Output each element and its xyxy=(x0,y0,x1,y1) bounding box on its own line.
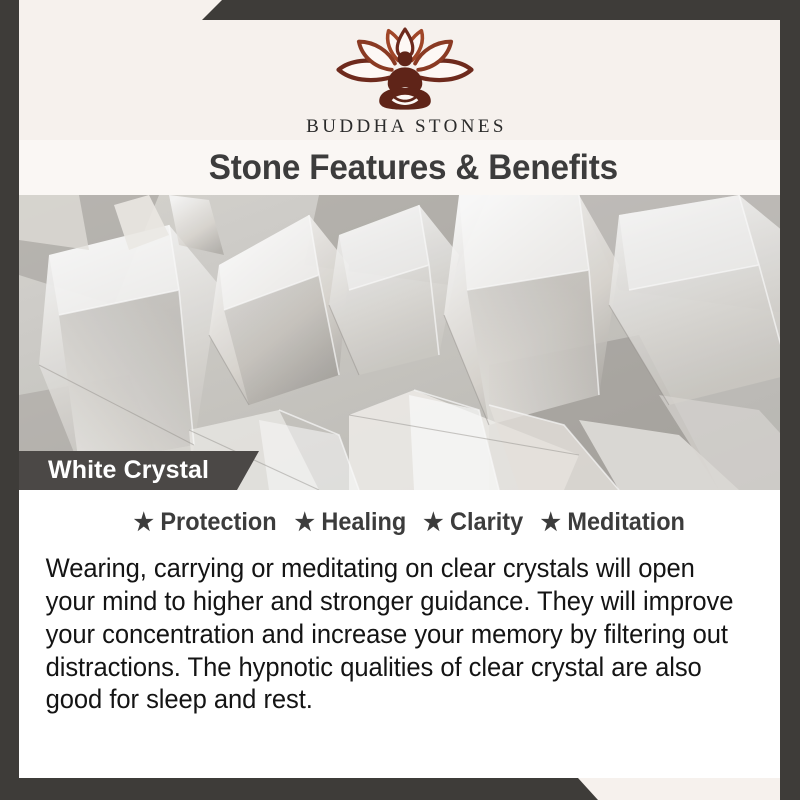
title-band: Stone Features & Benefits xyxy=(19,140,800,195)
benefit-label: Meditation xyxy=(568,508,686,537)
benefit-label: Protection xyxy=(160,508,276,537)
benefits-row: ★ Protection ★ Healing ★ Clarity ★ Medit… xyxy=(35,508,784,537)
star-icon: ★ xyxy=(541,511,561,535)
benefit-item-meditation: ★ Meditation xyxy=(541,508,685,537)
benefit-item-clarity: ★ Clarity xyxy=(423,508,523,537)
description-text: Wearing, carrying or meditating on clear… xyxy=(35,552,758,716)
benefit-item-protection: ★ Protection xyxy=(134,508,277,537)
content-area: ★ Protection ★ Healing ★ Clarity ★ Medit… xyxy=(19,490,800,778)
white-crystal-photo xyxy=(19,195,800,490)
frame-right-border xyxy=(780,0,800,800)
benefit-label: Healing xyxy=(322,508,407,537)
page-surface: BUDDHA STONES Stone Features & Benefits xyxy=(19,0,800,800)
lotus-meditation-figure-icon xyxy=(321,26,489,112)
benefit-label: Clarity xyxy=(450,508,523,537)
star-icon: ★ xyxy=(134,511,154,535)
brand-header: BUDDHA STONES xyxy=(19,0,800,142)
star-icon: ★ xyxy=(423,511,443,535)
benefit-item-healing: ★ Healing xyxy=(295,508,407,537)
stone-name-banner: White Crystal xyxy=(19,451,259,490)
star-icon: ★ xyxy=(295,511,315,535)
infographic-poster: BUDDHA STONES Stone Features & Benefits xyxy=(0,0,800,800)
stone-name-label: White Crystal xyxy=(19,456,209,485)
page-title: Stone Features & Benefits xyxy=(209,148,618,188)
frame-left-border xyxy=(0,0,19,800)
brand-wordmark: BUDDHA STONES xyxy=(306,116,507,138)
